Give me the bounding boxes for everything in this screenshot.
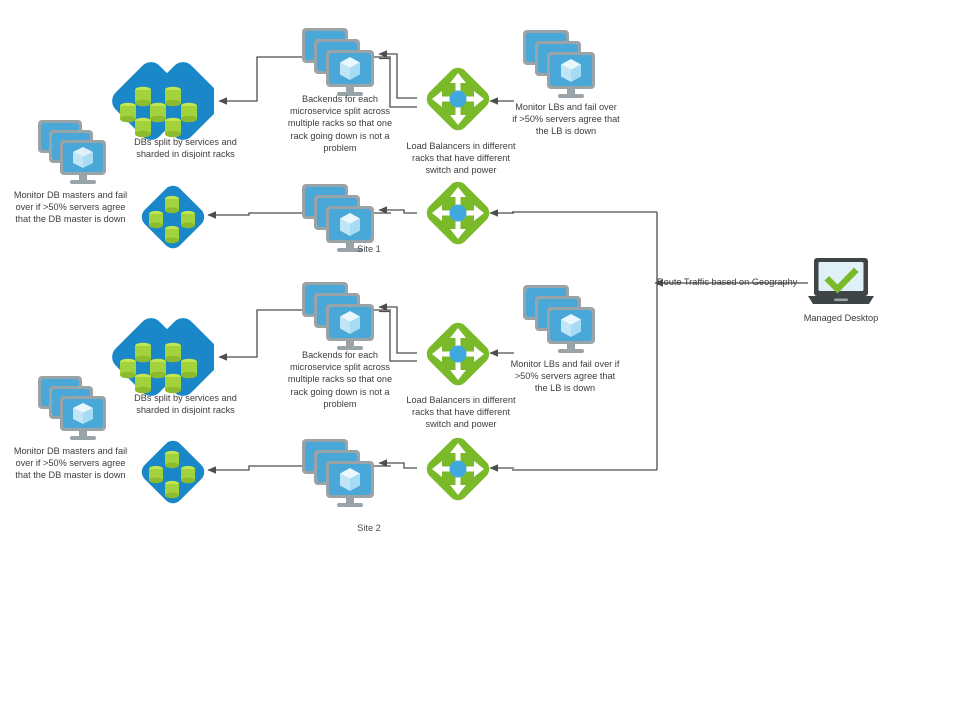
site1-db-cluster-primary-caption: DBs split by services and sharded in dis… xyxy=(118,136,253,160)
site2-load-balancer-bottom[interactable] xyxy=(421,432,495,506)
site1-backend-top-caption: Backends for each microservice split acr… xyxy=(278,93,402,154)
site2-lb-monitor-server-stack[interactable] xyxy=(521,283,599,355)
site2-load-balancer-top[interactable] xyxy=(421,317,495,391)
laptop-check-icon xyxy=(806,256,876,310)
site2-db-monitor-caption: Monitor DB masters and fail over if >50%… xyxy=(8,445,133,482)
site1-load-balancer-top[interactable] xyxy=(421,62,495,136)
load-balancer-icon xyxy=(421,432,495,506)
site2-load-balancer-caption: Load Balancers in different racks that h… xyxy=(405,394,517,431)
site1-load-balancer-bottom[interactable] xyxy=(421,176,495,250)
server-stack-icon xyxy=(300,280,378,352)
database-cluster-icon xyxy=(108,313,214,401)
server-stack-icon xyxy=(36,118,110,186)
site1-backend-server-stack-top[interactable] xyxy=(300,26,378,98)
managed-desktop-caption: Managed Desktop xyxy=(791,312,891,324)
site-label-2: Site 2 xyxy=(334,523,404,533)
database-icon xyxy=(137,437,209,507)
managed-desktop-laptop[interactable] xyxy=(806,256,876,310)
site2-lb-monitor-caption: Monitor LBs and fail over if >50% server… xyxy=(510,358,620,395)
site1-lb-monitor-server-stack[interactable] xyxy=(521,28,599,100)
server-stack-icon xyxy=(300,26,378,98)
site2-db-cluster-primary-caption: DBs split by services and sharded in dis… xyxy=(118,392,253,416)
site2-db-cluster-secondary[interactable] xyxy=(137,437,209,507)
site2-backend-server-stack-top[interactable] xyxy=(300,280,378,352)
load-balancer-icon xyxy=(421,62,495,136)
site2-backend-top-caption: Backends for each microservice split acr… xyxy=(278,349,402,410)
site-label-1: Site 1 xyxy=(334,244,404,254)
site1-lb-monitor-caption: Monitor LBs and fail over if >50% server… xyxy=(512,101,620,138)
load-balancer-icon xyxy=(421,176,495,250)
site1-db-cluster-primary[interactable] xyxy=(108,57,214,145)
server-stack-icon xyxy=(300,437,378,509)
route-traffic-edge-label: Route Traffic based on Geography xyxy=(657,277,797,287)
database-cluster-icon xyxy=(108,57,214,145)
load-balancer-icon xyxy=(421,317,495,391)
site2-backend-server-stack-bottom[interactable] xyxy=(300,437,378,509)
server-stack-icon xyxy=(36,374,110,442)
site1-load-balancer-caption: Load Balancers in different racks that h… xyxy=(405,140,517,177)
server-stack-icon xyxy=(521,28,599,100)
site2-db-monitor-server-stack[interactable] xyxy=(36,374,110,442)
site1-db-cluster-secondary[interactable] xyxy=(137,182,209,252)
site1-db-monitor-caption: Monitor DB masters and fail over if >50%… xyxy=(8,189,133,226)
site1-db-monitor-server-stack[interactable] xyxy=(36,118,110,186)
database-icon xyxy=(137,182,209,252)
diagram-canvas: Monitor DB masters and fail over if >50%… xyxy=(0,0,960,720)
site2-db-cluster-primary[interactable] xyxy=(108,313,214,401)
server-stack-icon xyxy=(521,283,599,355)
